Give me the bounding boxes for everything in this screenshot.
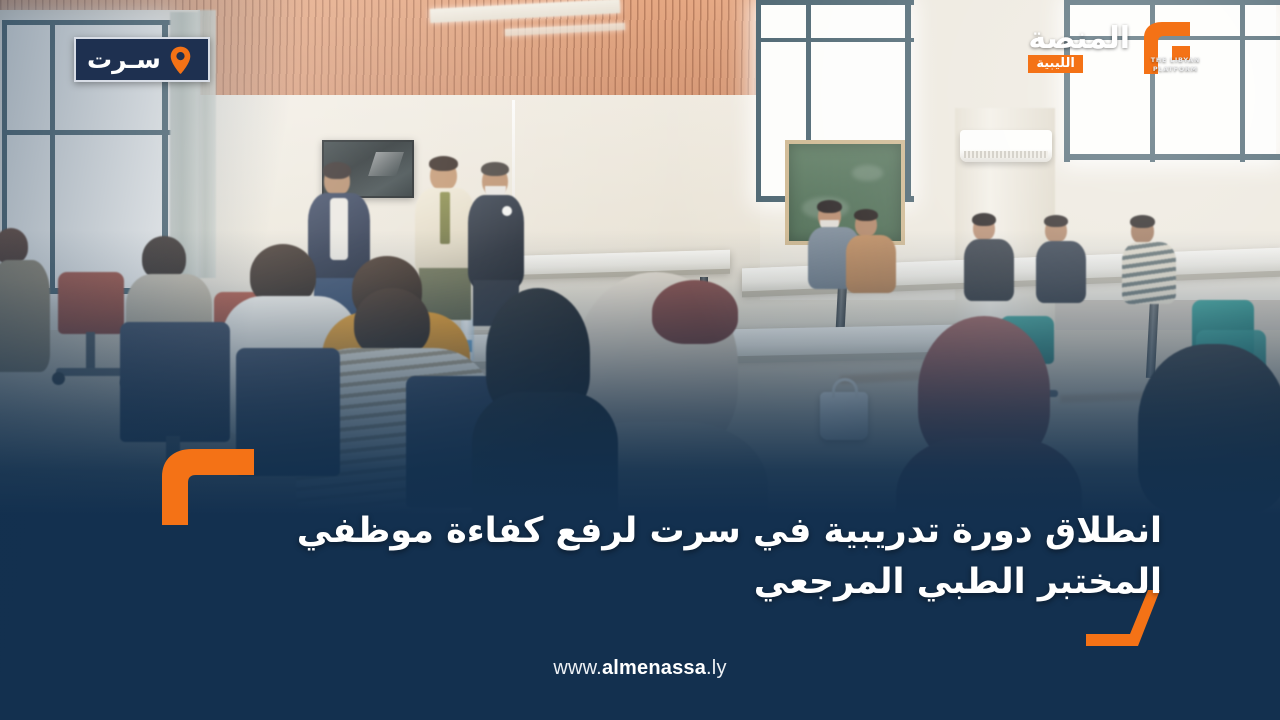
air-conditioner xyxy=(960,130,1052,162)
location-badge: سـرت xyxy=(74,37,210,82)
chair-base xyxy=(56,368,128,376)
window-mullion-h xyxy=(2,130,172,135)
chair-wheel xyxy=(52,372,65,385)
chair-navy xyxy=(120,322,230,442)
window-frame-top xyxy=(1064,0,1280,5)
news-graphic-card: سـرت المنصة الليبية THE LIBYAN PLATFORM … xyxy=(0,0,1280,720)
chair-red xyxy=(58,272,124,334)
url-suffix: .ly xyxy=(706,657,727,679)
headline: انطلاق دورة تدريبية في سرت لرفع كفاءة مو… xyxy=(242,506,1162,608)
location-label: سـرت xyxy=(87,47,161,72)
map-pin-icon xyxy=(170,46,191,74)
headline-line-2: المختبر الطبي المرجعي xyxy=(754,562,1162,602)
window-frame-bottom xyxy=(1064,154,1280,160)
window-frame-top xyxy=(2,20,172,25)
website-url[interactable]: www.almenassa.ly xyxy=(0,657,1280,680)
handbag xyxy=(820,392,868,440)
window-frame-left xyxy=(756,0,761,202)
brand-logo: المنصة الليبية THE LIBYAN PLATFORM xyxy=(1028,20,1198,76)
handbag-handle xyxy=(832,378,858,398)
logo-sub-text: الليبية xyxy=(1028,55,1082,73)
headline-line-1: انطلاق دورة تدريبية في سرت لرفع كفاءة مو… xyxy=(297,511,1162,551)
logo-main-text: المنصة xyxy=(1028,24,1130,54)
window-mullion-h xyxy=(756,38,914,42)
chair-stem xyxy=(86,332,95,370)
window-mullion-v xyxy=(50,20,55,294)
url-prefix: www. xyxy=(553,657,602,679)
window-frame-right xyxy=(905,0,911,202)
window-mullion-v xyxy=(1240,0,1245,162)
url-name: almenassa xyxy=(602,657,706,679)
logo-english-text: THE LIBYAN PLATFORM xyxy=(1151,56,1200,74)
window-frame-top xyxy=(756,0,914,5)
